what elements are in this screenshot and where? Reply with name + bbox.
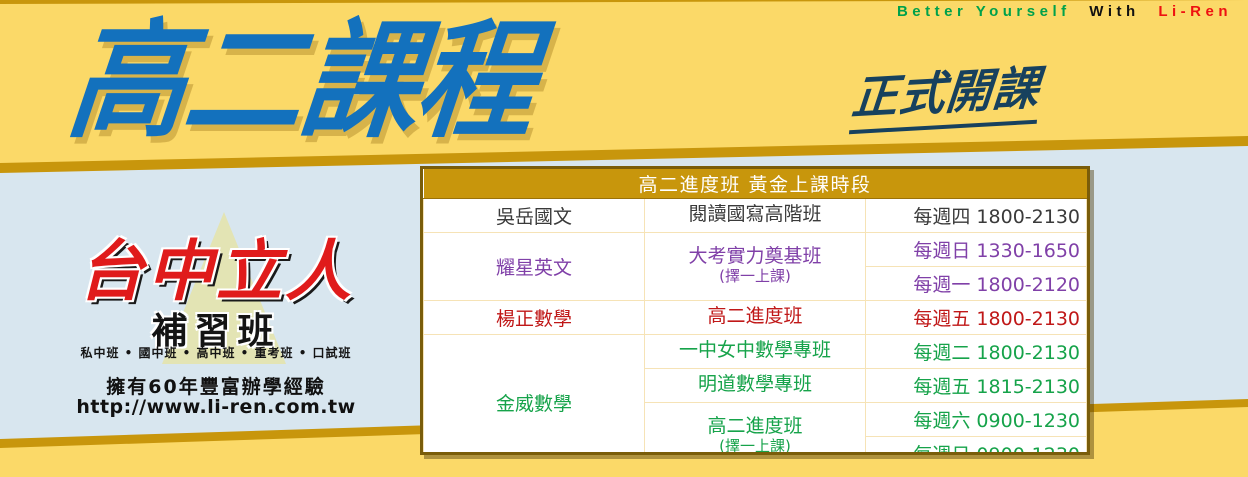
tagline: Better Yourself With Li-Ren xyxy=(897,3,1232,20)
table-row: 金威數學一中女中數學專班每週二 1800-2130 xyxy=(424,334,1087,368)
course-cell: 一中女中數學專班 xyxy=(645,334,866,368)
teacher-cell: 耀星英文 xyxy=(424,232,645,300)
time-cell: 每週五 1815-2130 xyxy=(866,368,1087,402)
time-cell: 每週六 0900-1230 xyxy=(866,402,1087,436)
tagline-part-2: With xyxy=(1089,3,1139,20)
course-cell: 高二進度班(擇一上課) xyxy=(645,402,866,455)
poster-canvas: Better Yourself With Li-Ren 高二課程 正式開課 台中… xyxy=(0,0,1248,477)
logo: 台中立人 補習班 私中班 • 國中班 • 高中班 • 重考班 • 口試班 擁有6… xyxy=(44,212,388,422)
time-cell: 每週五 1800-2130 xyxy=(866,300,1087,334)
course-name: 閱讀國寫高階班 xyxy=(688,203,821,225)
page-title: 高二課程 xyxy=(62,16,540,146)
logo-name: 台中立人 xyxy=(44,218,388,314)
course-cell: 大考實力奠基班(擇一上課) xyxy=(645,232,866,300)
page-subtitle: 正式開課 xyxy=(849,51,1043,134)
time-cell: 每週日 0900-1230 xyxy=(866,436,1087,455)
course-name: 一中女中數學專班 xyxy=(679,339,831,361)
schedule-header-title: 高二進度班 黃金上課時段 xyxy=(424,169,1087,198)
course-cell: 高二進度班 xyxy=(645,300,866,334)
logo-tags: 私中班 • 國中班 • 高中班 • 重考班 • 口試班 xyxy=(44,344,388,361)
tagline-part-1: Better Yourself xyxy=(897,3,1071,20)
time-cell: 每週二 1800-2130 xyxy=(866,334,1087,368)
schedule-table: 高二進度班 黃金上課時段 吳岳國文閱讀國寫高階班每週四 1800-2130耀星英… xyxy=(423,169,1087,455)
course-note: (擇一上課) xyxy=(651,438,859,455)
course-cell: 明道數學專班 xyxy=(645,368,866,402)
time-cell: 每週一 1800-2120 xyxy=(866,266,1087,300)
course-name: 明道數學專班 xyxy=(698,373,812,395)
tagline-part-3: Li-Ren xyxy=(1158,3,1232,20)
course-name: 高二進度班 xyxy=(707,305,802,327)
course-cell: 閱讀國寫高階班 xyxy=(645,198,866,232)
time-cell: 每週日 1330-1650 xyxy=(866,232,1087,266)
course-note: (擇一上課) xyxy=(651,268,859,285)
teacher-cell: 楊正數學 xyxy=(424,300,645,334)
teacher-cell: 吳岳國文 xyxy=(424,198,645,232)
course-name: 高二進度班 xyxy=(707,415,802,437)
schedule-header-row: 高二進度班 黃金上課時段 xyxy=(424,169,1087,198)
schedule-table-head: 高二進度班 黃金上課時段 xyxy=(424,169,1087,198)
logo-experience: 擁有60年豐富辦學經驗 xyxy=(44,372,388,399)
schedule-table-container: 高二進度班 黃金上課時段 吳岳國文閱讀國寫高階班每週四 1800-2130耀星英… xyxy=(420,166,1090,455)
course-name: 大考實力奠基班 xyxy=(688,245,821,267)
table-row: 吳岳國文閱讀國寫高階班每週四 1800-2130 xyxy=(424,198,1087,232)
teacher-cell: 金威數學 xyxy=(424,334,645,455)
logo-website-url[interactable]: http://www.li-ren.com.tw xyxy=(44,396,388,418)
table-row: 楊正數學高二進度班每週五 1800-2130 xyxy=(424,300,1087,334)
schedule-table-body: 吳岳國文閱讀國寫高階班每週四 1800-2130耀星英文大考實力奠基班(擇一上課… xyxy=(424,198,1087,455)
time-cell: 每週四 1800-2130 xyxy=(866,198,1087,232)
table-row: 耀星英文大考實力奠基班(擇一上課)每週日 1330-1650 xyxy=(424,232,1087,266)
